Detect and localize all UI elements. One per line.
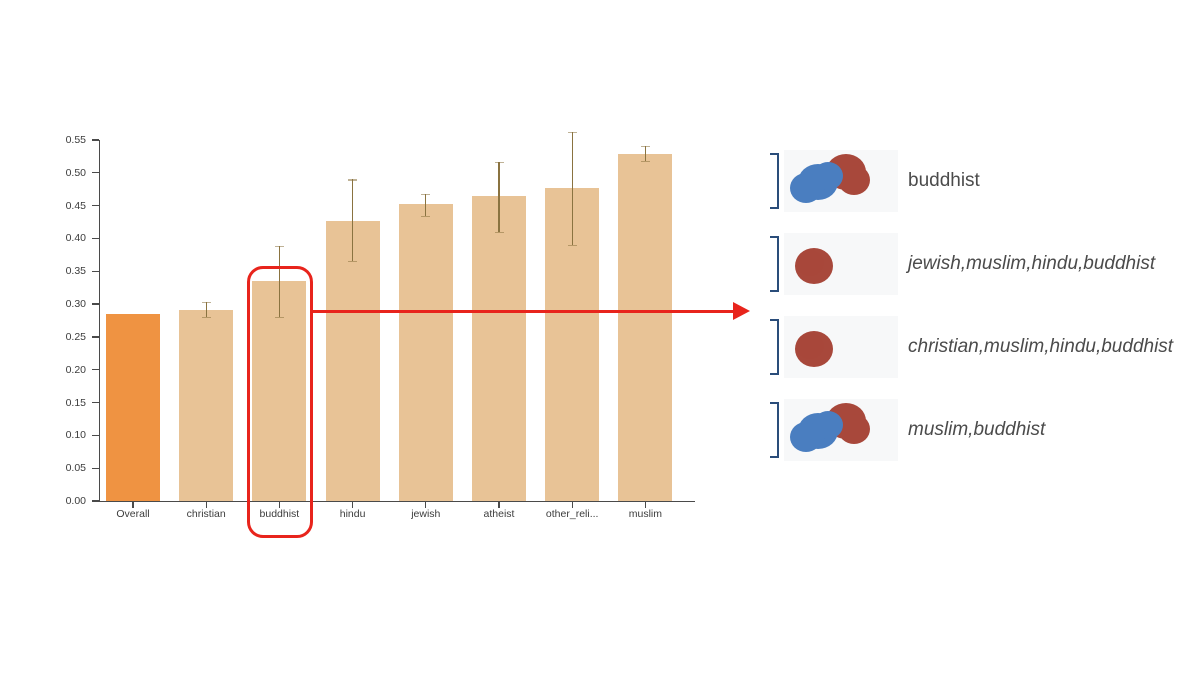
error-bar-cap (202, 317, 211, 318)
error-bar-muslim (645, 146, 646, 161)
x-tick-mark (498, 501, 499, 508)
error-bar-cap (421, 194, 430, 195)
error-bar-atheist (498, 162, 499, 232)
legend-item[interactable]: jewish,muslim,hindu,buddhist (770, 233, 1195, 295)
x-tick-mark (645, 501, 646, 508)
error-bar-cap (568, 245, 577, 246)
x-axis-line (99, 501, 695, 502)
legend-item-label: jewish,muslim,hindu,buddhist (908, 233, 1155, 295)
legend-item[interactable]: buddhist (770, 150, 1195, 212)
y-tick-label: 0.55 (48, 135, 86, 146)
bar-christian (179, 310, 233, 501)
error-bar-christian (206, 302, 207, 316)
error-bar-cap (421, 216, 430, 217)
x-tick-mark (132, 501, 133, 508)
error-bar-cap (275, 246, 284, 247)
legend-thumbnail-blob-icon (784, 150, 898, 212)
legend-item-label: buddhist (908, 150, 980, 212)
error-bar-cap (495, 162, 504, 163)
x-tick-label-muslim: muslim (585, 509, 705, 520)
y-tick-mark (92, 435, 99, 436)
y-tick-label: 0.45 (48, 201, 86, 212)
y-tick-label: 0.25 (48, 332, 86, 343)
y-tick-mark (92, 336, 99, 337)
error-bar-jewish (425, 194, 426, 216)
error-bar-cap (495, 232, 504, 233)
bar-muslim (618, 154, 672, 501)
error-bar-cap (641, 161, 650, 162)
y-tick-mark (92, 238, 99, 239)
x-tick-mark (425, 501, 426, 508)
y-tick-label: 0.00 (48, 496, 86, 507)
x-tick-mark (352, 501, 353, 508)
y-tick-mark (92, 500, 99, 501)
y-tick-mark (92, 139, 99, 140)
bracket-icon (770, 153, 779, 209)
bar-jewish (399, 204, 453, 501)
y-tick-label: 0.10 (48, 430, 86, 441)
y-tick-label: 0.40 (48, 233, 86, 244)
error-bar-cap (348, 261, 357, 262)
y-tick-mark (92, 369, 99, 370)
bracket-icon (770, 402, 779, 458)
y-tick-mark (92, 271, 99, 272)
error-bar-cap (202, 302, 211, 303)
legend-thumbnail-blob-icon (784, 399, 898, 461)
legend-thumbnail-blob-icon (784, 233, 898, 295)
bar-overall (106, 314, 160, 501)
callout-arrow-line (311, 310, 736, 313)
y-tick-label: 0.15 (48, 398, 86, 409)
y-tick-mark (92, 402, 99, 403)
x-tick-mark (206, 501, 207, 508)
screenshot-root: 0.000.050.100.150.200.250.300.350.400.45… (0, 0, 1200, 675)
error-bar-cap (641, 146, 650, 147)
y-tick-label: 0.35 (48, 266, 86, 277)
x-tick-mark (572, 501, 573, 508)
bar-hindu (326, 221, 380, 501)
y-tick-mark (92, 303, 99, 304)
legend-thumbnail-blob-icon (784, 316, 898, 378)
y-tick-label: 0.20 (48, 365, 86, 376)
bar-chart: 0.000.050.100.150.200.250.300.350.400.45… (0, 0, 760, 560)
y-tick-mark (92, 172, 99, 173)
legend-item[interactable]: christian,muslim,hindu,buddhist (770, 316, 1195, 378)
bracket-icon (770, 319, 779, 375)
y-tick-mark (92, 205, 99, 206)
error-bar-cap (348, 179, 357, 180)
bracket-icon (770, 236, 779, 292)
error-bar-hindu (352, 179, 353, 260)
legend-panel: buddhistjewish,muslim,hindu,buddhistchri… (770, 150, 1195, 480)
legend-item[interactable]: muslim,buddhist (770, 399, 1195, 461)
y-axis-line (99, 140, 100, 502)
callout-arrow-head-icon (733, 302, 750, 320)
bar-atheist (472, 196, 526, 501)
legend-item-label: christian,muslim,hindu,buddhist (908, 316, 1173, 378)
error-bar-cap (568, 132, 577, 133)
y-tick-label: 0.05 (48, 463, 86, 474)
y-tick-mark (92, 468, 99, 469)
y-tick-label: 0.30 (48, 299, 86, 310)
highlight-rectangle-buddhist (247, 266, 313, 538)
y-tick-label: 0.50 (48, 168, 86, 179)
legend-item-label: muslim,buddhist (908, 399, 1045, 461)
error-bar-other-reli- (572, 132, 573, 245)
